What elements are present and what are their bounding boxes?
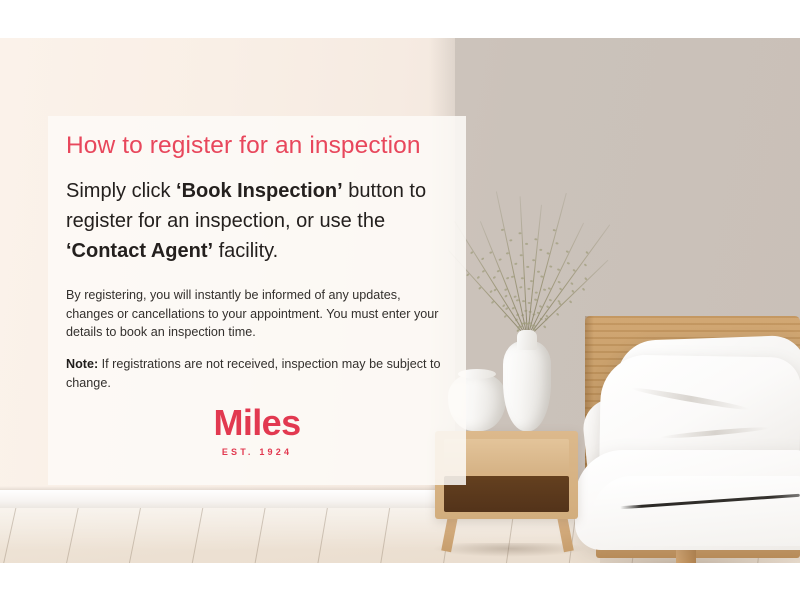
branch-leaf (520, 254, 523, 256)
body-paragraph: By registering, you will instantly be in… (66, 286, 448, 342)
branch-leaf (521, 277, 524, 279)
contact-agent-label: ‘Contact Agent’ (66, 240, 213, 262)
lead-text-3: facility. (213, 240, 278, 262)
branch-leaf (504, 288, 508, 291)
note-text: If registrations are not received, inspe… (66, 357, 441, 390)
lead-text-1: Simply click (66, 180, 176, 202)
dried-branches (527, 188, 529, 338)
branch-leaf (549, 265, 552, 268)
branch-leaf (501, 228, 504, 231)
branch-leaf (534, 238, 537, 240)
branch-leaf (537, 270, 540, 272)
branch-leaf (516, 299, 519, 302)
letterbox-bottom (0, 563, 800, 600)
note-label: Note: (66, 357, 98, 371)
branch-leaf (512, 307, 516, 310)
branch-leaf (489, 251, 493, 254)
room-photo: How to register for an inspection Simply… (0, 38, 800, 563)
book-inspection-label: ‘Book Inspection’ (176, 180, 343, 202)
branch-leaf (543, 288, 546, 291)
brand-logo: Miles EST. 1924 (48, 404, 466, 457)
branch-leaf (496, 269, 500, 272)
note-paragraph: Note: If registrations are not received,… (66, 355, 448, 392)
screenshot-stage: How to register for an inspection Simply… (0, 0, 800, 600)
branch-leaf (506, 252, 509, 255)
branch-leaf (534, 298, 537, 301)
branch-leaf (522, 300, 525, 302)
pillow-crease (660, 425, 770, 440)
branch-leaf (547, 252, 550, 255)
branch-leaf (555, 242, 558, 245)
branch-leaf (553, 228, 556, 231)
tall-vase (503, 341, 551, 431)
logo-established: EST. 1924 (48, 447, 466, 457)
lead-paragraph: Simply click ‘Book Inspection’ button to… (66, 176, 458, 266)
pillow-crease (631, 385, 750, 412)
branch-leaf (540, 275, 543, 278)
page-title: How to register for an inspection (66, 132, 452, 160)
branch-leaf (526, 265, 529, 267)
branch-leaf (518, 232, 521, 234)
info-panel: How to register for an inspection Simply… (48, 116, 466, 485)
letterbox-top (0, 0, 800, 38)
tall-vase-neck (517, 330, 537, 350)
branch-leaf (525, 243, 528, 245)
logo-wordmark: Miles (48, 404, 466, 442)
branch-leaf (511, 275, 514, 278)
branch-leaf (532, 259, 535, 261)
branch-leaf (528, 302, 531, 304)
duvet-fold (592, 476, 800, 546)
